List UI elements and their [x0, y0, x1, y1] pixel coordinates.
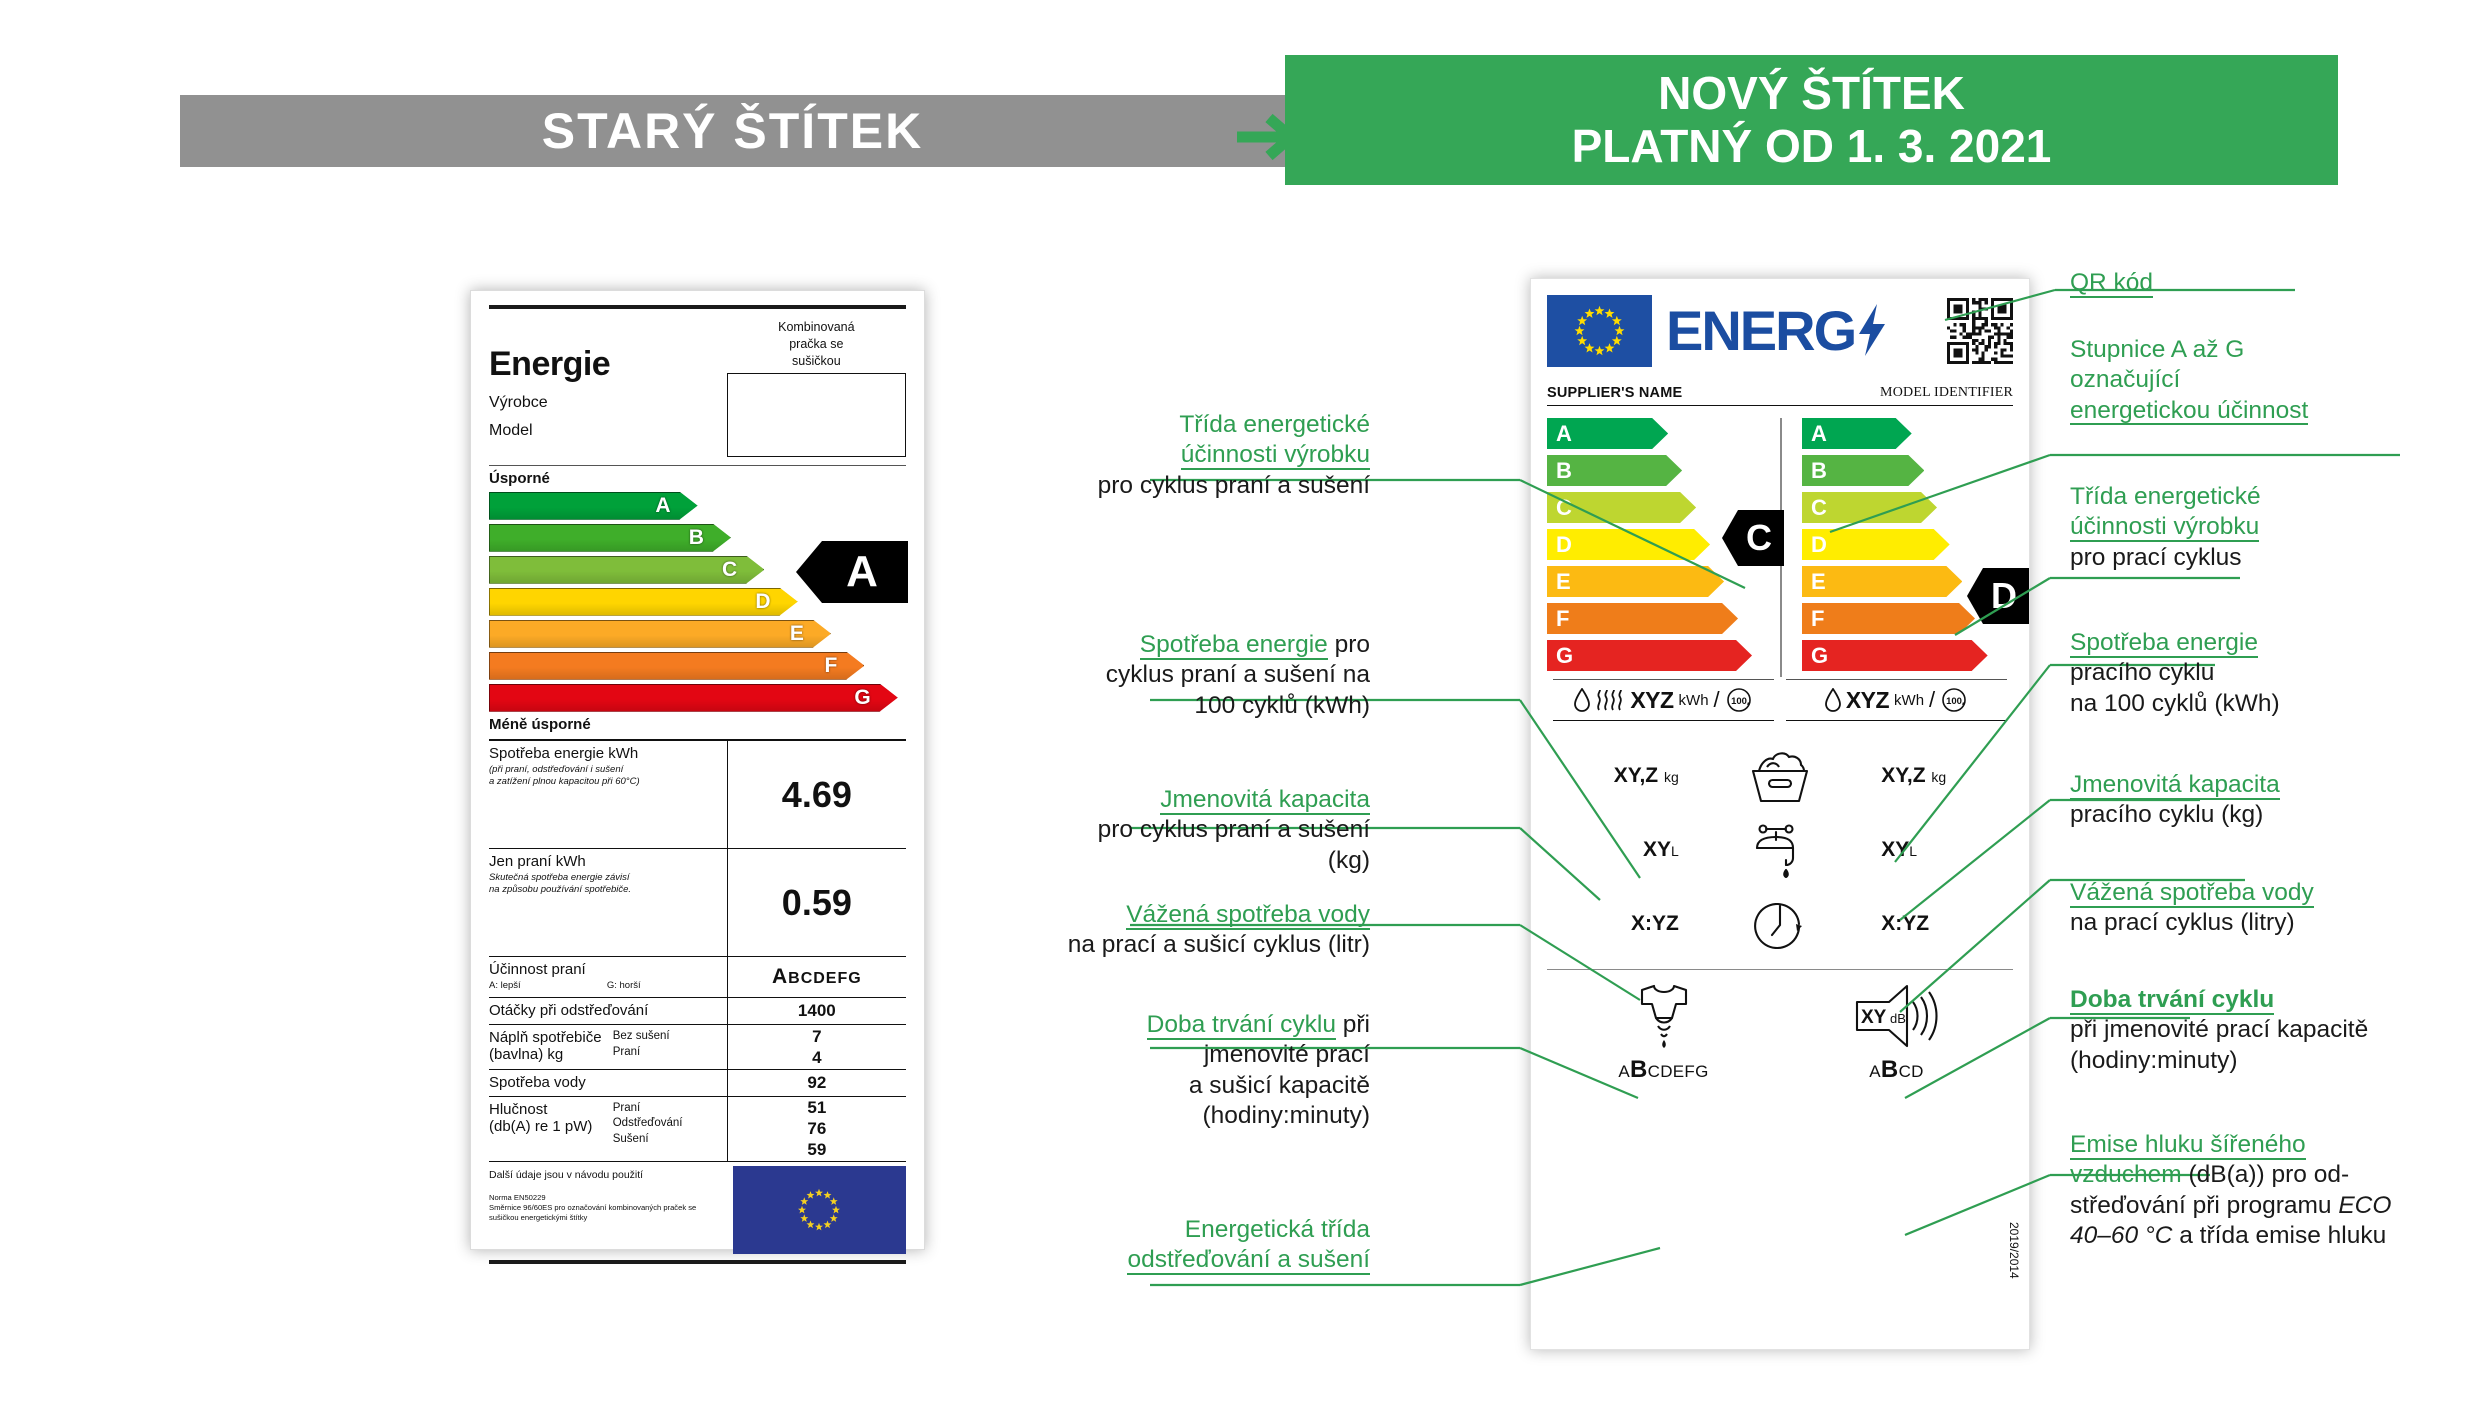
old-label-table: Spotřeba energie kWh(při praní, odstřeďo… — [489, 739, 906, 1162]
annotation-line: Jmenovitá kapacita — [2070, 770, 2470, 800]
new-label-rule — [1547, 405, 2013, 406]
heat-waves-icon — [1595, 688, 1625, 712]
new-scale-arrow-wash-dry-f: F — [1547, 603, 1738, 634]
table-row: Účinnost praníA: lepšíG: horšíABCDEFG — [489, 957, 906, 998]
old-label-product-type: Kombinovanápračka sesušičkou — [727, 319, 906, 370]
spec-capacity: XY,Z kg XY,Z kg — [1547, 739, 2013, 813]
annotation-line: Doba trvání cyklu — [2070, 985, 2480, 1015]
duration-wash: X:YZ — [1859, 912, 2013, 936]
old-label-top-rule — [489, 305, 906, 309]
old-label-bottom-rule — [489, 1260, 906, 1264]
old-label-norm: Norma EN50229Směrnice 96/60ES pro označo… — [489, 1193, 727, 1224]
eu-flag-icon — [1547, 295, 1652, 367]
table-cell-value: 1400 — [727, 998, 906, 1024]
annotation-spin-dry-energy-class: Energetická třídaodstřeďování a sušení — [1040, 1215, 1370, 1276]
annotation-line: účinnosti výrobku — [1080, 440, 1370, 470]
old-label-banner-text: STARÝ ŠTÍTEK — [542, 102, 923, 160]
annotation-line: pracího cyklu — [2070, 658, 2470, 688]
noise-speaker-icon: XY dB — [1849, 982, 1945, 1050]
model-identifier: MODEL IDENTIFIER — [1880, 385, 2013, 401]
svg-text:XY: XY — [1861, 1007, 1887, 1028]
old-label-footnote: Další údaje jsou v návodu použití — [489, 1169, 727, 1181]
annotation-line: 40–60 °C a třída emise hluku — [2070, 1221, 2480, 1251]
annotation-line: Třída energetické — [1080, 410, 1370, 440]
energy-value-wash: XYZ — [1846, 687, 1889, 714]
annotation-line: Emise hluku šířeného — [2070, 1130, 2480, 1160]
annotation-line: jmenovité prací — [1060, 1040, 1370, 1070]
water-wash-dry: XYL — [1547, 838, 1701, 862]
old-label-more-efficient: Úsporné — [489, 470, 906, 487]
old-label-product-image-box — [727, 373, 906, 457]
annotation-line: odstřeďování a sušení — [1040, 1245, 1370, 1275]
noise-class-block: XY dB ABCD — [1780, 982, 2013, 1084]
annotation-line: Vážená spotřeba vody — [1040, 900, 1370, 930]
old-scale-arrow-b: B — [489, 524, 731, 552]
annotation-airborne-noise-emission: Emise hluku šířenéhovzduchem (dB(a)) pro… — [2070, 1130, 2480, 1252]
table-cell-label: Účinnost praníA: lepšíG: horší — [489, 957, 727, 997]
annotation-line: energetickou účinnost — [2070, 396, 2480, 426]
supplier-name: SUPPLIER'S NAME — [1547, 385, 1682, 401]
new-label-banner-line2: PLATNÝ OD 1. 3. 2021 — [1572, 120, 2052, 173]
annotation-line: cyklus praní a sušení na — [1060, 660, 1370, 690]
water-drop-icon — [1825, 688, 1841, 712]
table-row: Náplň spotřebiče(bavlna) kgBez sušeníPra… — [489, 1025, 906, 1070]
new-scale-arrow-wash-d: D — [1802, 529, 1950, 560]
old-scale-arrow-e: E — [489, 620, 831, 648]
new-label-banner: NOVÝ ŠTÍTEK PLATNÝ OD 1. 3. 2021 — [1285, 55, 2338, 185]
old-label-manufacturer: Výrobce — [489, 394, 727, 412]
table-cell-label: Otáčky při odstřeďování — [489, 998, 727, 1024]
new-scale-arrow-wash-dry-d: D — [1547, 529, 1710, 560]
annotation-line: na 100 cyklů (kWh) — [2070, 689, 2470, 719]
water-drop-icon — [1574, 688, 1590, 712]
old-label-less-efficient: Méně úsporné — [489, 716, 906, 733]
new-label-scales: ABCDEFG ABCDEFG C D — [1547, 418, 2013, 677]
energy-unit-wash-dry: kWh — [1679, 692, 1709, 709]
table-cell-value: ABCDEFG — [727, 957, 906, 997]
clock-icon — [1701, 894, 1859, 954]
table-cell-value: 92 — [727, 1070, 906, 1096]
annotation-line: vzduchem (dB(a)) pro od- — [2070, 1160, 2480, 1190]
annotation-line: Stupnice A až G — [2070, 335, 2480, 365]
annotation-line: pro cyklus praní a sušení — [1060, 815, 1370, 845]
regulation-number: 2019/2014 — [2007, 1222, 2021, 1279]
energy-value-wash-dry: XYZ — [1630, 687, 1673, 714]
svg-text:100: 100 — [1946, 696, 1962, 707]
old-label-header: Energie Výrobce Model Kombinovanápračka … — [489, 319, 906, 457]
capacity-wash-dry: XY,Z kg — [1547, 764, 1701, 788]
energy-unit-wash: kWh — [1894, 692, 1924, 709]
water-tap-icon — [1701, 820, 1859, 880]
annotation-energy-consumption-wash-dry: Spotřeba energie procyklus praní a sušen… — [1060, 630, 1370, 721]
old-label-banner: STARÝ ŠTÍTEK — [180, 95, 1285, 167]
noise-class-scale: ABCD — [1869, 1056, 1923, 1084]
annotation-line: (hodiny:minuty) — [1060, 1101, 1370, 1131]
new-energy-label-card: ENERG SUPPLIER'S NAME MODEL IDENTIFIER A… — [1530, 278, 2030, 1350]
table-row: Spotřeba energie kWh(při praní, odstřeďo… — [489, 741, 906, 849]
annotation-cycle-duration-wash: Doba trvání cyklupři jmenovité prací kap… — [2070, 985, 2480, 1076]
annotation-line: 100 cyklů (kWh) — [1060, 691, 1370, 721]
eu-flag-icon — [733, 1166, 906, 1254]
annotation-line: při jmenovité prací kapacitě — [2070, 1015, 2480, 1045]
annotation-weighted-water-wash: Vážená spotřeba vodyna prací cyklus (lit… — [2070, 878, 2470, 939]
new-scale-arrow-wash-dry-a: A — [1547, 418, 1668, 449]
capacity-wash: XY,Z kg — [1859, 764, 2013, 788]
new-scale-arrow-wash-e: E — [1802, 566, 1962, 597]
svg-text:dB: dB — [1890, 1011, 1906, 1026]
new-label-header: ENERG — [1547, 295, 2013, 367]
table-cell-value: 517659 — [727, 1097, 906, 1161]
energ-text: ENERG — [1666, 299, 1855, 362]
old-scale-arrow-g: G — [489, 684, 898, 712]
annotation-line: a sušicí kapacitě — [1060, 1071, 1370, 1101]
table-cell-label: Náplň spotřebiče(bavlna) kgBez sušeníPra… — [489, 1025, 727, 1069]
old-energy-label-card: Energie Výrobce Model Kombinovanápračka … — [470, 290, 925, 1250]
new-scale-arrow-wash-dry-c: C — [1547, 492, 1696, 523]
lightning-bolt-icon — [1855, 304, 1889, 356]
annotation-line: Energetická třída — [1040, 1215, 1370, 1245]
new-scale-arrow-wash-dry-e: E — [1547, 566, 1724, 597]
old-scale-arrow-d: D — [489, 588, 798, 616]
annotation-line: Třída energetické — [2070, 482, 2470, 512]
annotation-line: označující — [2070, 365, 2480, 395]
new-scale-arrow-wash-f: F — [1802, 603, 1975, 634]
annotation-line: Spotřeba energie — [2070, 628, 2470, 658]
table-row: Jen praní kWhSkutečná spotřeba energie z… — [489, 849, 906, 957]
energ-wordmark: ENERG — [1666, 303, 1933, 359]
annotation-line: střeďování při programu ECO — [2070, 1191, 2480, 1221]
hundred-cycles-icon: 100 — [1725, 686, 1753, 714]
annotation-weighted-water-consumption: Vážená spotřeba vodyna prací a sušicí cy… — [1040, 900, 1370, 961]
qr-code-icon — [1947, 298, 2013, 364]
spec-duration: X:YZ X:YZ — [1547, 887, 2013, 961]
annotation-line: (kg) — [1060, 846, 1370, 876]
annotation-energy-class-wash-dry: Třída energetickéúčinnosti výrobkupro cy… — [1080, 410, 1370, 501]
spin-dry-shirt-icon — [1620, 982, 1708, 1050]
duration-wash-dry: X:YZ — [1547, 912, 1701, 936]
annotation-energy-class-wash: Třída energetickéúčinnosti výrobkupro pr… — [2070, 482, 2470, 573]
annotation-scale-a-to-g: Stupnice A až Goznačujícíenergetickou úč… — [2070, 335, 2480, 426]
table-cell-value: 74 — [727, 1025, 906, 1069]
new-scale-arrow-wash-dry-b: B — [1547, 455, 1682, 486]
table-cell-value: 4.69 — [727, 741, 906, 848]
water-wash: XYL — [1859, 838, 2013, 862]
annotation-line: Spotřeba energie pro — [1060, 630, 1370, 660]
annotation-line: na prací cyklus (litry) — [2070, 908, 2470, 938]
scale-wash: ABCDEFG — [1780, 418, 2013, 677]
old-label-divider — [489, 465, 906, 466]
annotation-line: pracího cyklu (kg) — [2070, 800, 2470, 830]
annotation-line: (hodiny:minuty) — [2070, 1046, 2480, 1076]
new-scale-arrow-wash-g: G — [1802, 640, 1988, 671]
hundred-cycles-icon: 100 — [1940, 686, 1968, 714]
new-label-specs: XY,Z kg XY,Z kg XYL XYL X:YZ X:YZ — [1547, 739, 2013, 961]
annotation-rated-capacity-wash: Jmenovitá kapacitapracího cyklu (kg) — [2070, 770, 2470, 831]
annotation-line: pro prací cyklus — [2070, 543, 2470, 573]
table-cell-label: Jen praní kWhSkutečná spotřeba energie z… — [489, 849, 727, 956]
annotation-line: účinnosti výrobku — [2070, 512, 2470, 542]
old-scale-arrow-a: A — [489, 492, 698, 520]
energy-consumption-wash: XYZ kWh / 100 — [1780, 679, 2013, 721]
new-label-banner-line1: NOVÝ ŠTÍTEK — [1658, 67, 1965, 120]
table-cell-label: Hlučnost(db(A) re 1 pW)PraníOdstřeďování… — [489, 1097, 727, 1161]
annotation-energy-consumption-wash: Spotřeba energiepracího cykluna 100 cykl… — [2070, 628, 2470, 719]
annotation-line: Jmenovitá kapacita — [1060, 785, 1370, 815]
spin-dry-class-scale: ABCDEFG — [1618, 1056, 1708, 1084]
new-scale-arrow-wash-dry-g: G — [1547, 640, 1752, 671]
old-label-title: Energie — [489, 345, 727, 384]
spec-water: XYL XYL — [1547, 813, 2013, 887]
annotation-line: Doba trvání cyklu při — [1060, 1010, 1370, 1040]
table-cell-label: Spotřeba energie kWh(při praní, odstřeďo… — [489, 741, 727, 848]
annotation-qr-code: QR kód — [2070, 268, 2470, 298]
annotation-rated-capacity-wash-dry: Jmenovitá kapacitapro cyklus praní a suš… — [1060, 785, 1370, 876]
new-label-lower-rule — [1547, 969, 2013, 970]
old-scale-arrow-c: C — [489, 556, 764, 584]
old-scale-arrow-f: F — [489, 652, 864, 680]
table-row: Hlučnost(db(A) re 1 pW)PraníOdstřeďování… — [489, 1097, 906, 1162]
new-label-identity-row: SUPPLIER'S NAME MODEL IDENTIFIER — [1547, 385, 2013, 401]
new-scale-arrow-wash-b: B — [1802, 455, 1924, 486]
energy-consumption-row: XYZ kWh / 100 XYZ kWh / 100 — [1547, 679, 2013, 721]
table-cell-label: Spotřeba vody — [489, 1070, 727, 1096]
annotation-cycle-duration-wash-dry: Doba trvání cyklu přijmenovité pracía su… — [1060, 1010, 1370, 1132]
new-scale-arrow-wash-c: C — [1802, 492, 1937, 523]
table-row: Spotřeba vody92 — [489, 1070, 906, 1097]
new-scale-arrow-wash-a: A — [1802, 418, 1912, 449]
spin-dry-class-block: ABCDEFG — [1547, 982, 1780, 1084]
table-cell-value: 0.59 — [727, 849, 906, 956]
annotation-line: na prací a sušicí cyklus (litr) — [1040, 930, 1370, 960]
laundry-basket-icon — [1701, 747, 1859, 805]
energy-consumption-wash-dry: XYZ kWh / 100 — [1547, 679, 1780, 721]
table-row: Otáčky při odstřeďování1400 — [489, 998, 906, 1025]
annotation-line: pro cyklus praní a sušení — [1080, 471, 1370, 501]
new-label-bottom-row: ABCDEFG XY dB ABCD — [1547, 982, 2013, 1084]
annotation-line: QR kód — [2070, 268, 2470, 298]
old-label-model: Model — [489, 422, 727, 440]
svg-text:100: 100 — [1731, 696, 1747, 707]
annotation-line: Vážená spotřeba vody — [2070, 878, 2470, 908]
